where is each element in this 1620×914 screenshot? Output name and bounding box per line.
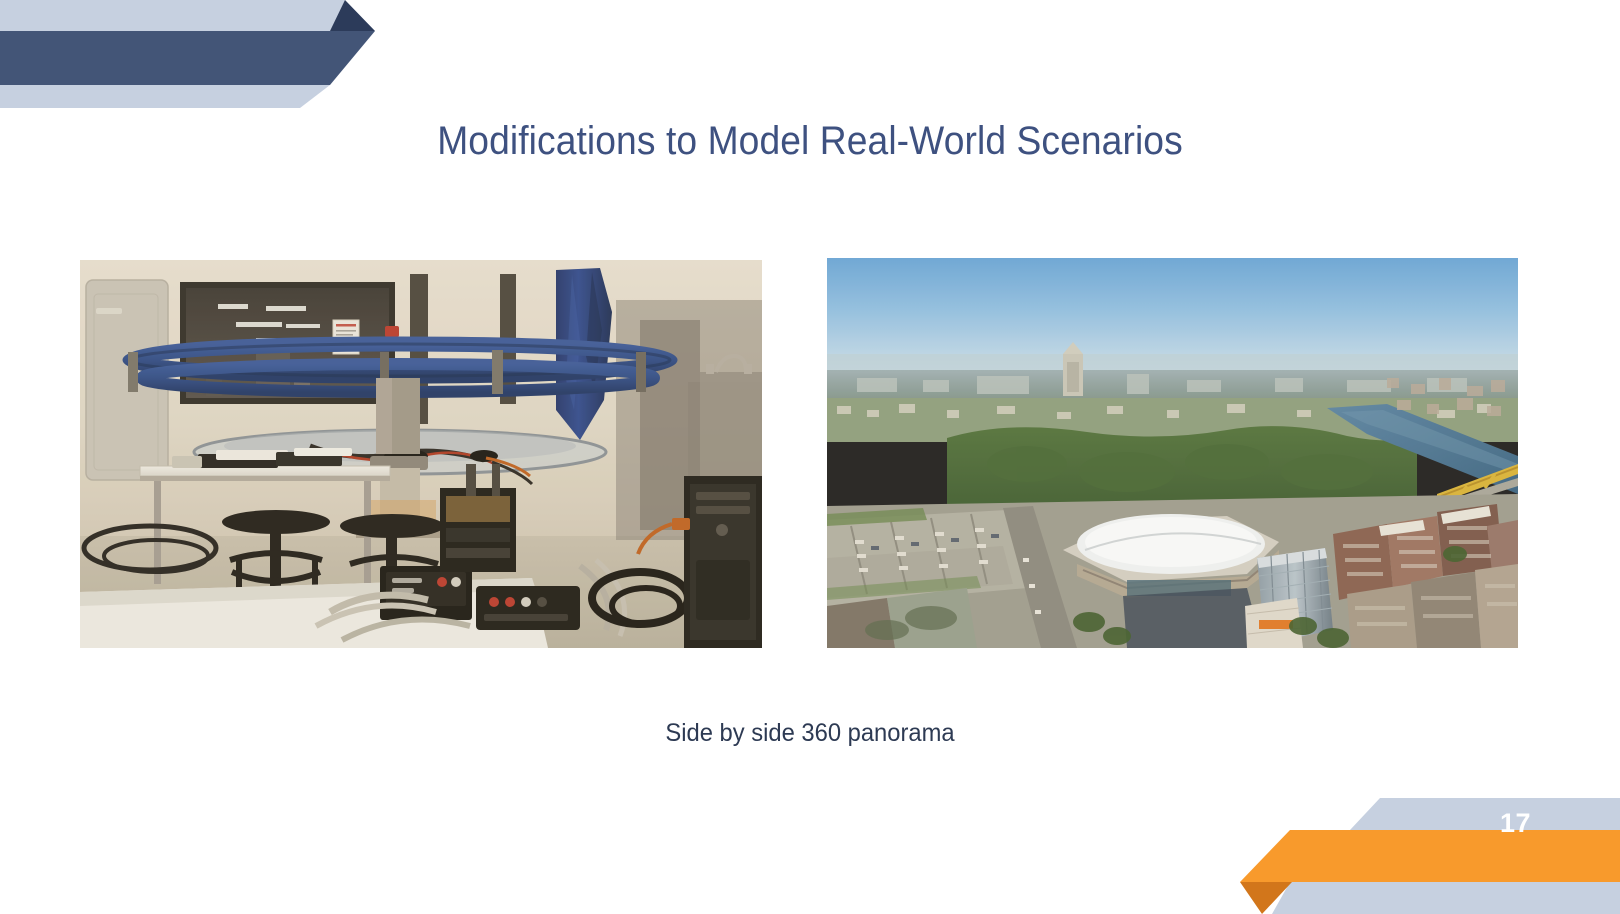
- page-number: 17: [1500, 808, 1560, 839]
- slide-title: Modifications to Model Real-World Scenar…: [57, 118, 1564, 165]
- slide: Modifications to Model Real-World Scenar…: [0, 0, 1620, 914]
- image-caption: Side by side 360 panorama: [41, 719, 1580, 748]
- aerial-city-panorama-photo: [827, 258, 1518, 648]
- laboratory-shake-table-photo: [80, 260, 762, 648]
- top-left-chevron-banner: [0, 0, 400, 108]
